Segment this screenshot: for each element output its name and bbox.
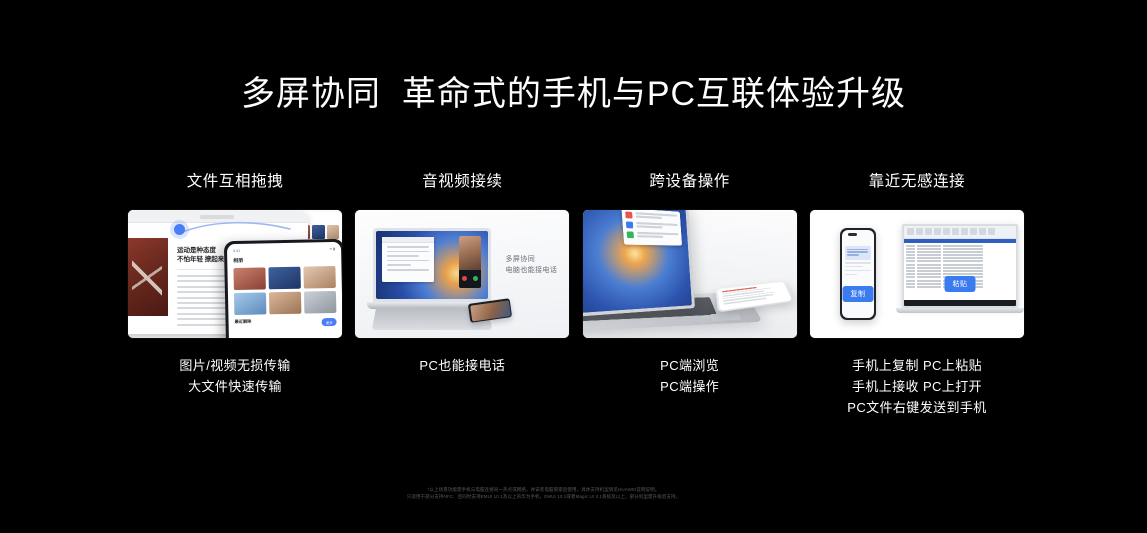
selected-text-line [847, 249, 868, 250]
end-call-icon[interactable] [462, 276, 467, 281]
caption-line: PC文件右键发送到手机 [810, 397, 1024, 418]
phone-gallery-item[interactable] [304, 291, 336, 314]
cell [906, 248, 915, 250]
table-row [906, 267, 1014, 269]
ribbon-icon[interactable] [934, 228, 941, 235]
ribbon-icon[interactable] [961, 228, 968, 235]
ribbon-icon[interactable] [979, 228, 986, 235]
table-row [906, 273, 1014, 275]
answer-call-icon[interactable] [473, 276, 478, 281]
window-text-line [387, 260, 429, 262]
selected-text-line [847, 254, 859, 255]
table-row [906, 270, 1014, 272]
cell [917, 273, 941, 275]
cell [906, 245, 915, 247]
panel2-overlay-line-2: 电脑也能接电话 [506, 265, 558, 276]
app-icon-red [625, 212, 632, 219]
feature-column-proximity: 靠近无感连接 复制 [810, 172, 1024, 338]
footnote-line-2: 只适用于部分支持NFC、且同时支持EMUI 10.1及以上的华为手机，EMUI … [0, 493, 1087, 500]
cell [943, 257, 983, 259]
caption-line: PC端浏览 [583, 355, 797, 376]
drag-path-icon [172, 224, 308, 238]
window-text-line [387, 246, 429, 248]
table-row [906, 251, 1014, 253]
feature-captions: 图片/视频无损传输 大文件快速传输 PC也能接电话 PC端浏览 PC端操作 手机… [128, 355, 1024, 418]
cell [917, 270, 941, 272]
caption-line: PC也能接电话 [355, 355, 569, 376]
thumb [269, 292, 301, 315]
panel2-video-call-window [459, 236, 481, 288]
call-controls [459, 276, 481, 281]
ribbon-icon[interactable] [925, 228, 932, 235]
column-heading-file-drag: 文件互相拖拽 [187, 172, 284, 192]
ribbon-icon[interactable] [916, 228, 923, 235]
footnote-line-1: *以上场景功能需手机与电脑连接同一热点或网络，并安装电脑管家后使用，具体支持机型… [0, 486, 1087, 493]
thumb [304, 291, 336, 314]
cell [917, 280, 941, 282]
cell [906, 280, 915, 282]
cell [943, 273, 983, 275]
status-time: 9:41 [233, 249, 240, 253]
ribbon-icon[interactable] [970, 228, 977, 235]
panel1-article-photo [128, 238, 168, 316]
panel4-laptop: 粘贴 [902, 224, 1018, 313]
window-text-line [387, 251, 429, 253]
feature-columns: 文件互相拖拽 相册 [128, 172, 1024, 338]
thumb [303, 266, 335, 289]
cell [943, 248, 983, 250]
cell [906, 273, 915, 275]
notification-text [635, 212, 677, 220]
page-title: 多屏协同 革命式的手机与PC互联体验升级 [0, 72, 1147, 116]
thumb [233, 267, 265, 290]
cell [917, 245, 941, 247]
phone-gallery-item[interactable] [268, 267, 300, 290]
footnote-disclaimer: *以上场景功能需手机与电脑连接同一热点或网络，并安装电脑管家后使用，具体支持机型… [0, 486, 1147, 500]
panel1-phone-title: 相册 [233, 255, 335, 264]
cell [943, 264, 983, 266]
app-icon-green [626, 231, 633, 238]
table-row [906, 248, 1014, 250]
cell [906, 267, 915, 269]
panel1-phone-screen: 9:41 ▪▪ ▮ 相册 [227, 242, 342, 338]
caption-group-av-continue: PC也能接电话 [355, 355, 569, 418]
column-heading-av-continue: 音视频接续 [422, 172, 503, 192]
ribbon-icon[interactable] [943, 228, 950, 235]
phone-text-line [845, 266, 863, 267]
panel3-notification-panel [621, 210, 682, 246]
cell [943, 245, 983, 247]
phone-gallery-item[interactable] [303, 266, 335, 289]
cell [943, 270, 983, 272]
table-row [906, 245, 1014, 247]
copy-button[interactable]: 复制 [842, 286, 873, 302]
phone-gallery-item[interactable] [234, 292, 266, 315]
cell [917, 254, 941, 256]
panel3-laptop-screen [583, 210, 692, 316]
cell [917, 260, 941, 262]
panel2-overlay-text: 多屏协同 电脑也能接电话 [506, 254, 558, 276]
status-icons: ▪▪ ▮ [329, 247, 335, 251]
thumb [234, 292, 266, 315]
panel1-phone-more-button[interactable]: 更多 [322, 318, 337, 326]
feature-column-cross-device: 跨设备操作 [583, 172, 797, 338]
caption-line: 手机上复制 PC上粘贴 [810, 355, 1024, 376]
notification-row[interactable] [626, 221, 678, 230]
cell [906, 254, 915, 256]
window-text-line [387, 264, 410, 266]
window-text-line [387, 255, 418, 257]
panel4-phone-screen: 复制 [842, 230, 874, 318]
cell [917, 248, 941, 250]
thumb [268, 267, 300, 290]
cell [906, 257, 915, 259]
ribbon-icon[interactable] [907, 228, 914, 235]
panel2-phone-screen [470, 300, 511, 321]
panel1-titlebar-pill [200, 215, 234, 219]
paste-button[interactable]: 粘贴 [944, 276, 975, 292]
caption-group-proximity: 手机上复制 PC上粘贴 手机上接收 PC上打开 PC文件右键发送到手机 [810, 355, 1024, 418]
table-row [906, 254, 1014, 256]
panel-image-av-continue: 多屏协同 电脑也能接电话 [355, 210, 569, 338]
column-heading-cross-device: 跨设备操作 [649, 172, 730, 192]
notification-row[interactable] [626, 231, 678, 239]
phone-text-line [845, 262, 871, 263]
window-titlebar [382, 237, 434, 243]
panel-image-file-drag: 相册 [128, 210, 342, 338]
caption-line: 大文件快速传输 [128, 376, 342, 397]
caller-video-feed [459, 236, 481, 270]
panel2-desktop-window [382, 237, 434, 282]
drag-handle-icon[interactable] [174, 224, 185, 235]
cell [917, 286, 941, 288]
panel3-laptop-lid [583, 210, 695, 319]
panel3-trackpad [710, 313, 741, 321]
panel-image-proximity: 复制 [810, 210, 1024, 338]
cell [906, 251, 915, 253]
panel4-laptop-base [896, 308, 1024, 313]
feature-column-file-drag: 文件互相拖拽 相册 [128, 172, 342, 338]
panel1-phone-grid [233, 266, 336, 315]
cell [917, 283, 941, 285]
panel4-laptop-screen: 粘贴 [904, 226, 1016, 306]
cell [906, 286, 915, 288]
panel2-overlay-line-1: 多屏协同 [506, 254, 558, 265]
phone-gallery-item[interactable] [233, 267, 265, 290]
cell [943, 267, 983, 269]
phone-text-line [845, 270, 871, 271]
panel2-laptop-lid [373, 228, 491, 302]
cell [943, 260, 983, 262]
cell [943, 251, 983, 253]
caption-line: 手机上接收 PC上打开 [810, 376, 1024, 397]
cell [943, 254, 983, 256]
column-heading-proximity: 靠近无感连接 [869, 172, 966, 192]
cell [917, 276, 941, 278]
cell [906, 276, 915, 278]
panel2-laptop-screen [376, 231, 488, 299]
panel1-phone-overlay: 9:41 ▪▪ ▮ 相册 [224, 239, 342, 338]
cell [917, 264, 941, 266]
notification-text [636, 232, 678, 239]
cell [917, 257, 941, 259]
table-row [906, 257, 1014, 259]
notification-row[interactable] [625, 212, 677, 221]
panel4-laptop-lid: 粘贴 [902, 224, 1018, 308]
spreadsheet-ribbon [904, 226, 1016, 239]
gallery-thumb [327, 225, 339, 239]
cell [906, 264, 915, 266]
notification-text [635, 222, 677, 230]
table-row [906, 264, 1014, 266]
caption-group-cross-device: PC端浏览 PC端操作 [583, 355, 797, 418]
windows-taskbar [904, 300, 1016, 306]
caption-group-file-drag: 图片/视频无损传输 大文件快速传输 [128, 355, 342, 418]
caption-line: PC端操作 [583, 376, 797, 397]
feature-column-av-continue: 音视频接续 [355, 172, 569, 338]
phone-text-line [845, 274, 857, 275]
panel4-text-selection [845, 246, 871, 260]
cell [906, 260, 915, 262]
app-icon-blue [626, 221, 633, 228]
panel-image-cross-device [583, 210, 797, 338]
cell [906, 283, 915, 285]
gallery-thumb [312, 225, 324, 239]
cell [917, 251, 941, 253]
ribbon-icon[interactable] [988, 228, 995, 235]
cell [906, 270, 915, 272]
phone-status-bar: 9:41 ▪▪ ▮ [233, 247, 335, 253]
phone-gallery-item[interactable] [269, 292, 301, 315]
table-row [906, 260, 1014, 262]
cell [917, 267, 941, 269]
caption-line: 图片/视频无损传输 [128, 355, 342, 376]
panel4-phone: 复制 [840, 228, 876, 320]
selected-text-line [847, 251, 868, 252]
ribbon-icon[interactable] [952, 228, 959, 235]
phone-notch [848, 233, 857, 236]
window-text-line [387, 269, 429, 271]
